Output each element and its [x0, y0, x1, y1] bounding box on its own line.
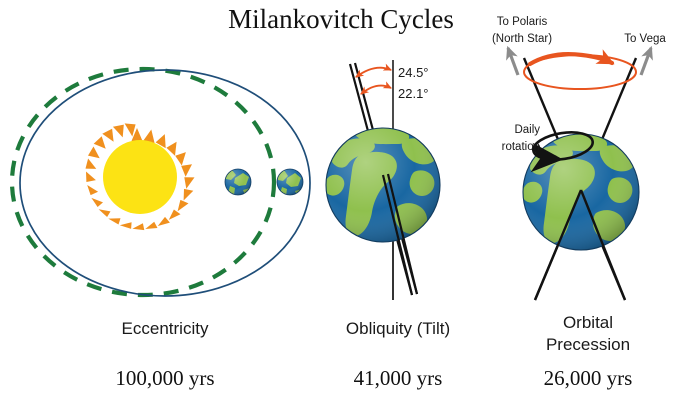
arrow-to-polaris-icon — [508, 48, 518, 75]
panel-label-eccentricity: Eccentricity — [122, 319, 209, 338]
obliquity-angle-max: 24.5° — [398, 65, 429, 80]
panel-period-obliquity: 41,000 yrs — [354, 366, 443, 390]
earth-on-circular-orbit — [225, 169, 251, 195]
panel-label-obliquity: Obliquity (Tilt) — [346, 319, 450, 338]
label-daily-line2: rotation — [502, 141, 540, 153]
earth-globe-obliquity — [324, 127, 440, 243]
label-vega: To Vega — [624, 33, 666, 45]
arrow-to-vega-icon — [641, 48, 651, 75]
panel-obliquity: 24.5° 22.1° Obliquity (Tilt) 41,000 yrs — [324, 60, 450, 390]
panel-precession: To Polaris (North Star) To Vega — [492, 16, 666, 390]
panel-period-eccentricity: 100,000 yrs — [115, 366, 214, 390]
label-polaris-line1: To Polaris — [497, 16, 548, 28]
earth-on-elliptical-orbit — [277, 169, 303, 196]
panel-label-precession-line2: Precession — [546, 335, 630, 354]
panel-eccentricity: Eccentricity 100,000 yrs — [12, 69, 310, 390]
obliquity-angle-min: 22.1° — [398, 86, 429, 101]
milankovitch-cycles-figure: Milankovitch Cycles — [0, 0, 682, 406]
label-daily-line1: Daily — [514, 124, 540, 136]
sun-icon — [86, 123, 195, 230]
panel-label-precession-line1: Orbital — [563, 313, 613, 332]
diagram-canvas: Milankovitch Cycles — [0, 0, 682, 406]
label-polaris-line2: (North Star) — [492, 33, 552, 45]
page-title: Milankovitch Cycles — [228, 4, 454, 34]
panel-period-precession: 26,000 yrs — [544, 366, 633, 390]
